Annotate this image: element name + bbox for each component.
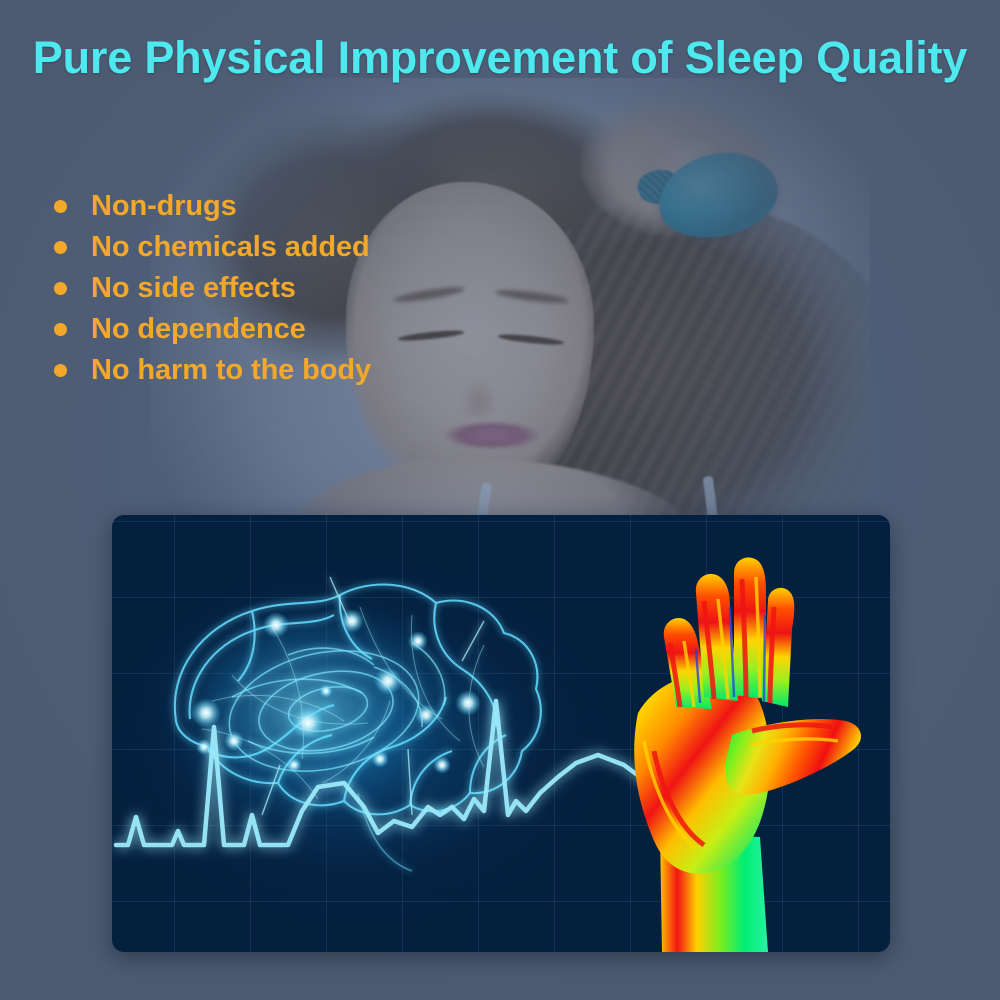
bullet-dot-icon [54, 200, 67, 213]
list-item: No side effects [54, 268, 371, 309]
bullet-dot-icon [54, 241, 67, 254]
list-item: No chemicals added [54, 227, 371, 268]
benefit-label: No chemicals added [91, 231, 370, 264]
bullet-dot-icon [54, 364, 67, 377]
benefit-label: No harm to the body [91, 354, 371, 387]
bullet-dot-icon [54, 282, 67, 295]
technology-panel [112, 515, 890, 952]
benefit-label: Non-drugs [91, 190, 237, 223]
page-title: Pure Physical Improvement of Sleep Quali… [0, 32, 1000, 84]
thermal-hand-image [600, 545, 890, 952]
benefit-label: No side effects [91, 272, 296, 305]
list-item: No dependence [54, 309, 371, 350]
list-item: No harm to the body [54, 350, 371, 391]
bullet-dot-icon [54, 323, 67, 336]
benefit-label: No dependence [91, 313, 306, 346]
list-item: Non-drugs [54, 186, 371, 227]
product-marketing-poster: Pure Physical Improvement of Sleep Quali… [0, 0, 1000, 1000]
benefits-list: Non-drugs No chemicals added No side eff… [54, 186, 371, 391]
